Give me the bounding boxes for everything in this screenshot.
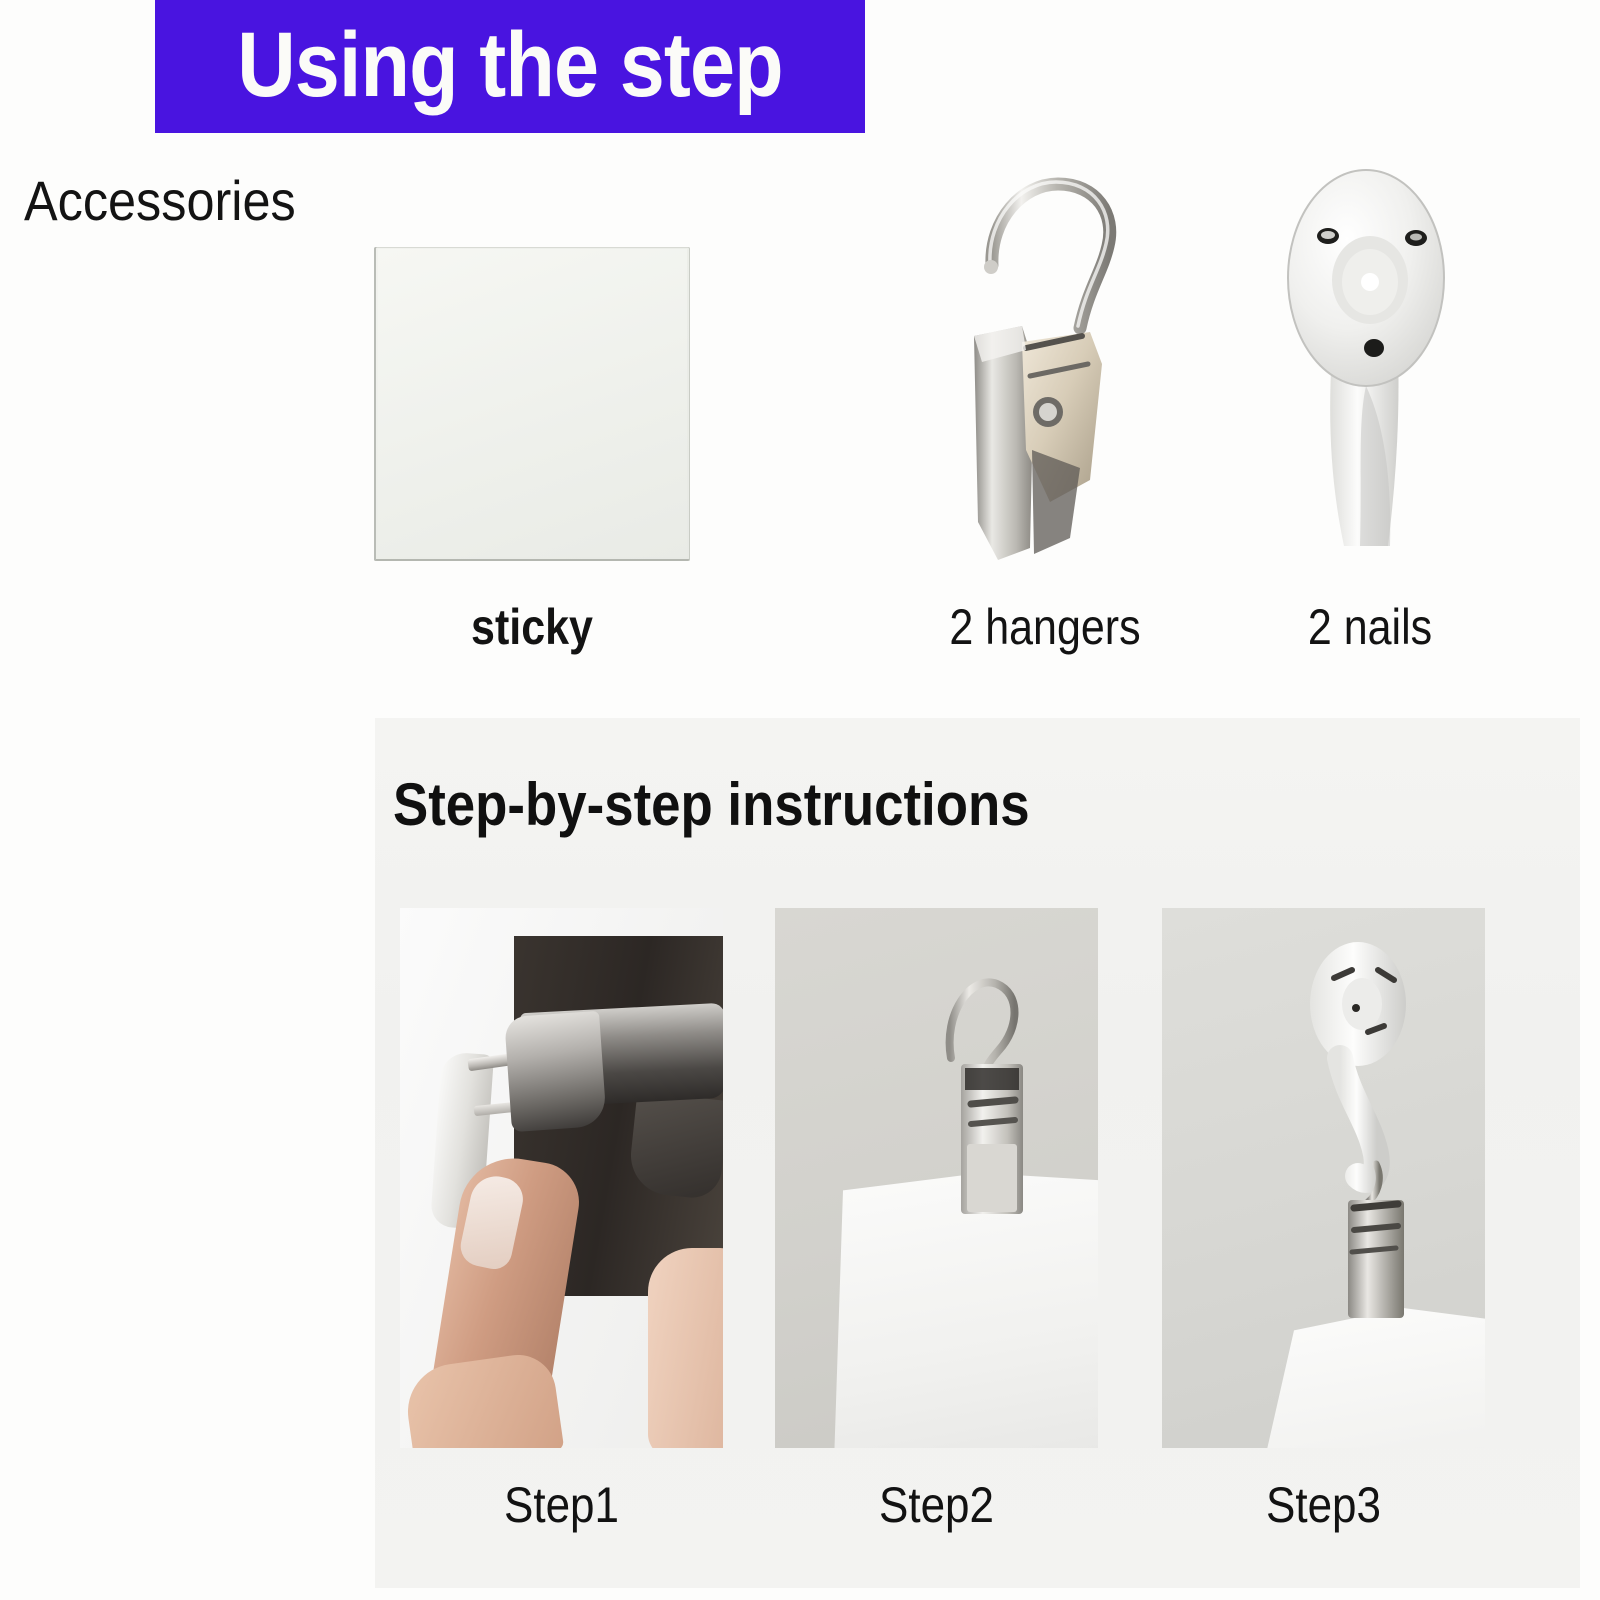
step-photo-2 xyxy=(775,908,1098,1448)
adhesive-pad-icon xyxy=(374,247,690,561)
step-label-2: Step2 xyxy=(794,1476,1078,1534)
accessory-label-hangers: 2 hangers xyxy=(907,598,1182,656)
step-photo-1 xyxy=(400,908,723,1448)
instructions-heading: Step-by-step instructions xyxy=(393,770,1030,839)
step-label-3: Step3 xyxy=(1181,1476,1465,1534)
accessory-label-nails: 2 nails xyxy=(1267,598,1473,656)
title-banner: Using the step xyxy=(155,0,865,133)
infographic-page: Using the step Accessories sticky xyxy=(0,0,1600,1600)
accessories-heading: Accessories xyxy=(24,168,296,233)
clip-hanger-icon xyxy=(930,150,1160,570)
wall-hook-nail-icon xyxy=(1270,150,1470,570)
step-photo-3 xyxy=(1162,908,1485,1448)
instructions-panel: Step-by-step instructions Step1 xyxy=(375,718,1580,1588)
page-title: Using the step xyxy=(237,19,782,111)
step-label-1: Step1 xyxy=(419,1476,703,1534)
accessory-label-sticky: sticky xyxy=(396,598,668,656)
